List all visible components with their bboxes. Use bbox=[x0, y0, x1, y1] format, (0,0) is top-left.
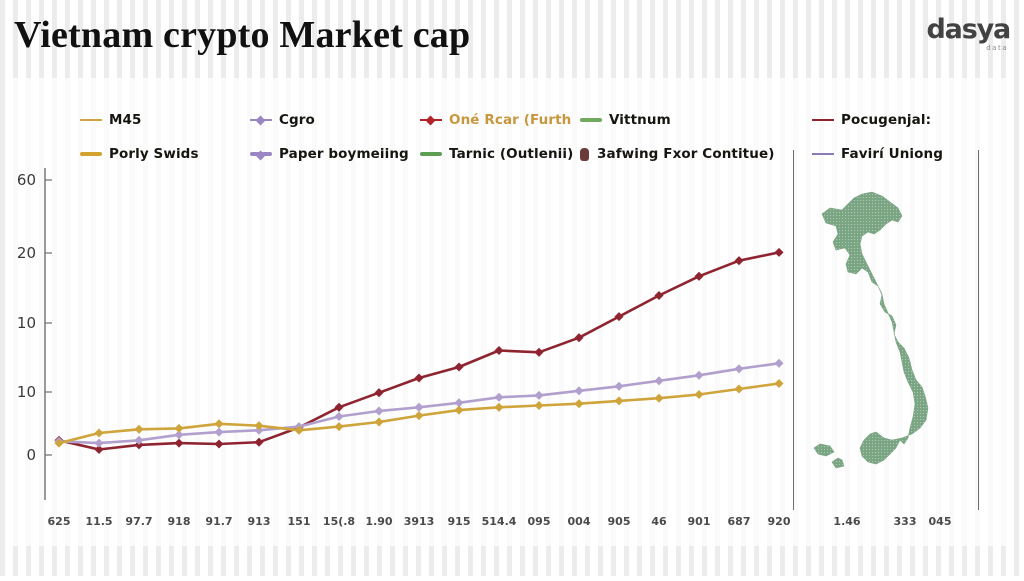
series-marker bbox=[454, 362, 463, 371]
series-marker bbox=[494, 346, 503, 355]
series-marker bbox=[534, 348, 543, 357]
series-marker bbox=[334, 403, 343, 412]
series-marker bbox=[774, 359, 783, 368]
series-marker bbox=[174, 424, 183, 433]
series-marker bbox=[614, 312, 623, 321]
series-marker bbox=[334, 422, 343, 431]
series-marker bbox=[774, 379, 783, 388]
x-axis-label: 920 bbox=[768, 515, 791, 528]
x-axis-label: 901 bbox=[688, 515, 711, 528]
x-axis-label: 915 bbox=[448, 515, 471, 528]
series-marker bbox=[494, 393, 503, 402]
series-marker bbox=[414, 411, 423, 420]
series-marker bbox=[574, 399, 583, 408]
x-axis-label: 687 bbox=[728, 515, 751, 528]
map-axis-label: 045 bbox=[929, 515, 952, 528]
panel-divider bbox=[978, 150, 979, 510]
x-axis-label: 151 bbox=[288, 515, 311, 528]
series-marker bbox=[414, 403, 423, 412]
x-axis-label: 913 bbox=[248, 515, 271, 528]
series-marker bbox=[574, 386, 583, 395]
vietnam-map-svg bbox=[812, 182, 982, 500]
series-marker bbox=[374, 406, 383, 415]
x-axis-label: 918 bbox=[168, 515, 191, 528]
x-axis-label: 91.7 bbox=[205, 515, 232, 528]
x-axis-label: 46 bbox=[651, 515, 666, 528]
series-marker bbox=[374, 388, 383, 397]
x-axis-label: 905 bbox=[608, 515, 631, 528]
series-marker bbox=[694, 371, 703, 380]
series-marker bbox=[614, 382, 623, 391]
map-axis-label: 333 bbox=[894, 515, 917, 528]
series-marker bbox=[534, 401, 543, 410]
series-marker bbox=[254, 438, 263, 447]
series-marker bbox=[734, 256, 743, 265]
series-marker bbox=[654, 291, 663, 300]
vietnam-map bbox=[812, 182, 982, 500]
x-axis-label: 1.90 bbox=[365, 515, 392, 528]
series-marker bbox=[694, 390, 703, 399]
x-axis-label: 3913 bbox=[404, 515, 435, 528]
x-axis-label: 625 bbox=[48, 515, 71, 528]
series-marker bbox=[214, 439, 223, 448]
series-marker bbox=[774, 248, 783, 257]
x-axis-label: 11.5 bbox=[85, 515, 112, 528]
slide-canvas: Vietnam crypto Market cap dasya data M45… bbox=[0, 0, 1024, 576]
y-axis-label: 60 bbox=[17, 171, 36, 189]
series-marker bbox=[574, 333, 583, 342]
panel-divider bbox=[793, 150, 794, 510]
x-axis-label: 004 bbox=[568, 515, 591, 528]
x-axis-label: 15(.8 bbox=[323, 515, 355, 528]
series-marker bbox=[694, 272, 703, 281]
series-marker bbox=[94, 439, 103, 448]
series-marker bbox=[374, 417, 383, 426]
series-marker bbox=[214, 419, 223, 428]
y-axis-label: 10 bbox=[17, 383, 36, 401]
series-marker bbox=[654, 394, 663, 403]
y-axis-label: 20 bbox=[17, 244, 36, 262]
series-marker bbox=[174, 439, 183, 448]
map-axis-label: 1.46 bbox=[833, 515, 860, 528]
series-marker bbox=[414, 373, 423, 382]
y-axis-label: 10 bbox=[17, 314, 36, 332]
series-marker bbox=[734, 364, 743, 373]
series-marker bbox=[94, 428, 103, 437]
series-marker bbox=[494, 403, 503, 412]
x-axis-label: 095 bbox=[528, 515, 551, 528]
series-marker bbox=[654, 376, 663, 385]
series-marker bbox=[134, 425, 143, 434]
x-axis-label: 97.7 bbox=[125, 515, 152, 528]
series-marker bbox=[334, 412, 343, 421]
series-marker bbox=[214, 428, 223, 437]
series-marker bbox=[534, 391, 543, 400]
x-axis-label: 514.4 bbox=[482, 515, 517, 528]
y-axis-label: 0 bbox=[26, 446, 36, 464]
series-marker bbox=[734, 384, 743, 393]
series-marker bbox=[454, 406, 463, 415]
series-marker bbox=[614, 396, 623, 405]
